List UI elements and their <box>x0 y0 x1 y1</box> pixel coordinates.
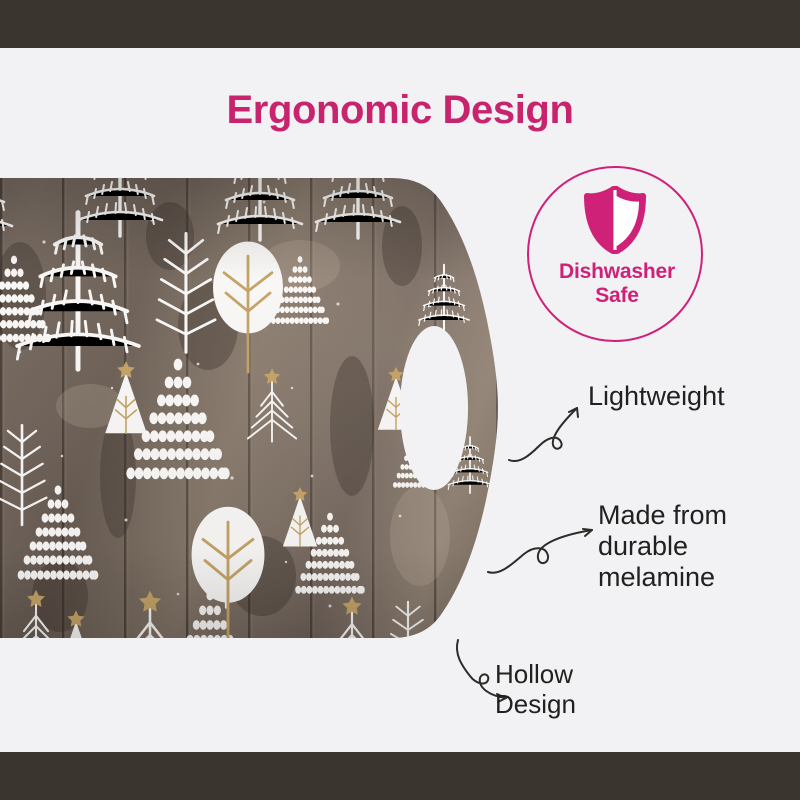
badge-line-1: Dishwasher <box>559 260 675 283</box>
page-title: Ergonomic Design <box>0 88 800 133</box>
callout-label-lightweight: Lightweight <box>588 381 725 412</box>
product-feature-graphic: Ergonomic Design Dishwasher Safe Lightwe… <box>0 0 800 800</box>
badge-label: Dishwasher Safe <box>529 260 705 307</box>
bottom-letterbox-bar <box>0 752 800 800</box>
shield-icon <box>584 186 646 254</box>
dishwasher-safe-badge: Dishwasher Safe <box>527 166 703 342</box>
badge-line-2: Safe <box>595 284 639 307</box>
curly-arrow-icon <box>486 518 596 584</box>
top-letterbox-bar <box>0 0 800 48</box>
product-image-tray <box>0 176 540 688</box>
callout-label-hollow: Hollow Design <box>495 660 576 719</box>
curly-arrow-icon <box>505 398 595 468</box>
tray-illustration <box>0 176 540 688</box>
callout-label-melamine: Made from durable melamine <box>598 500 727 592</box>
